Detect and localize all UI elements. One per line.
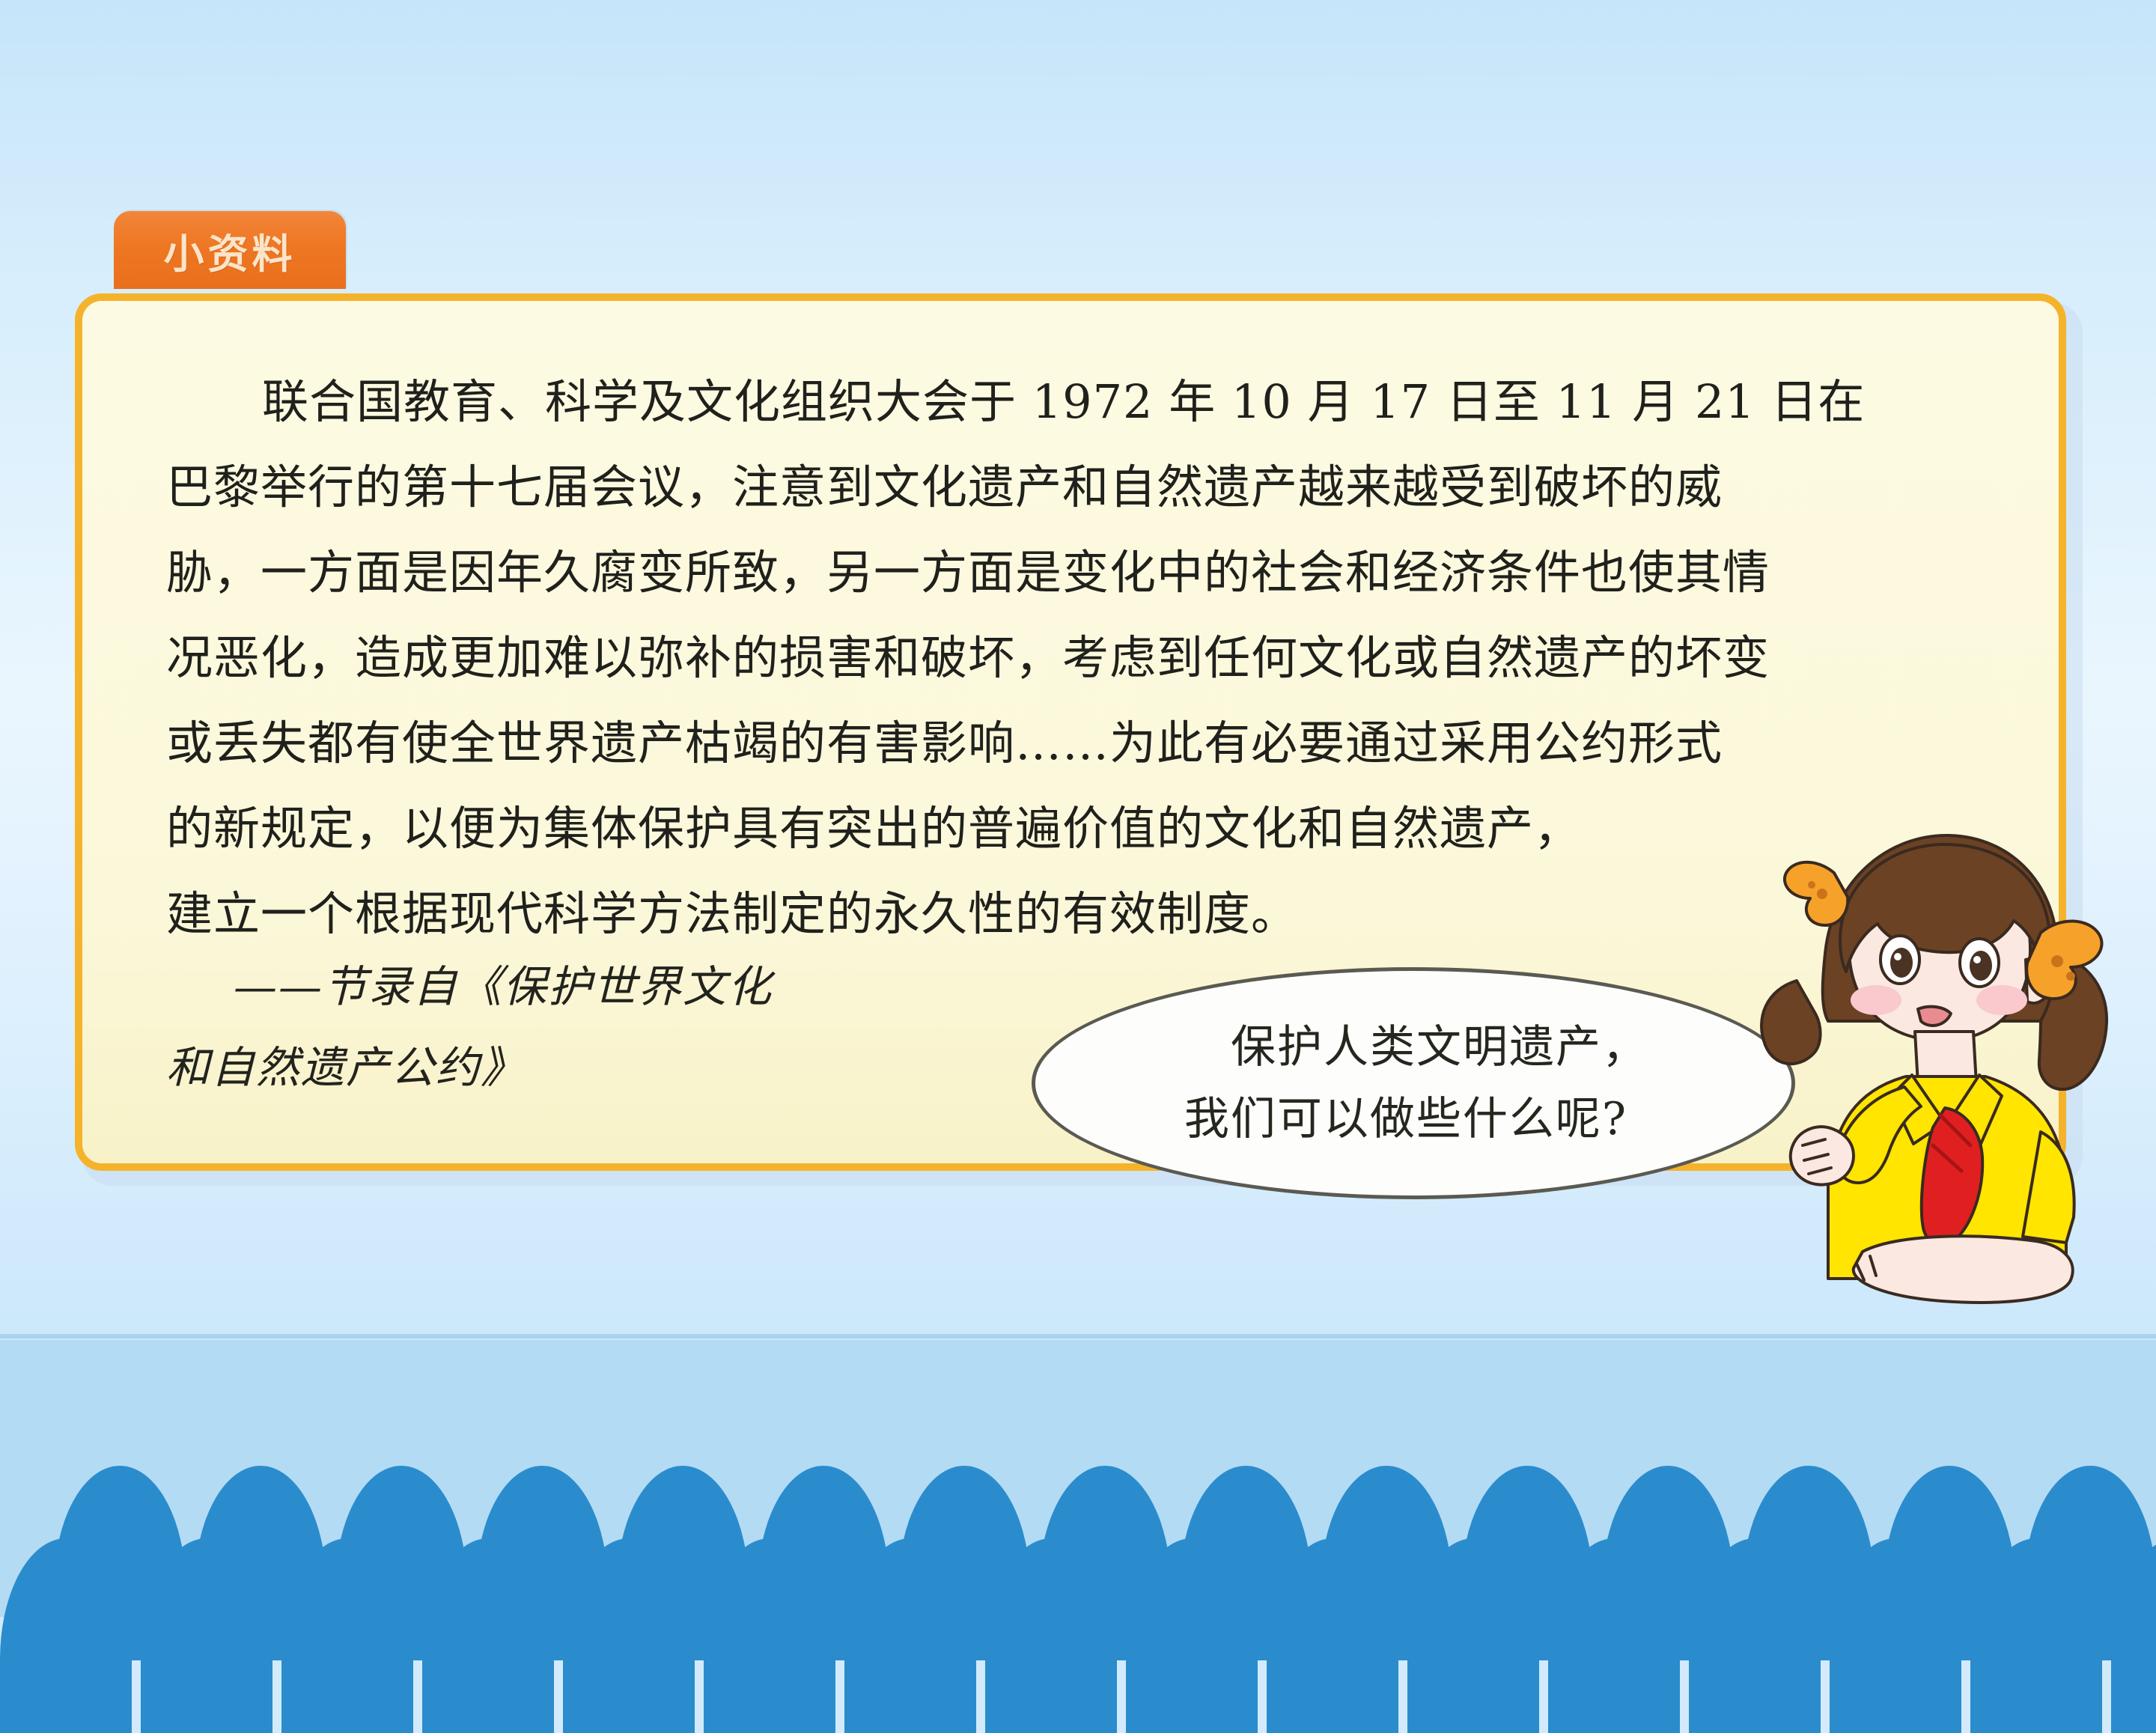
- excerpt-line: 或丢失都有使全世界遗产枯竭的有害影响……为此有必要通过采用公约形式: [166, 701, 1985, 786]
- info-tab-label: 小资料: [164, 221, 296, 280]
- decorative-arch: [1830, 1538, 1961, 1733]
- excerpt-body: 联合国教育、科学及文化组织大会于 1972 年 10 月 17 日至 11 月 …: [166, 359, 1985, 957]
- decorative-arch: [1126, 1538, 1258, 1733]
- cartoon-girl-illustration: [1744, 794, 2156, 1333]
- excerpt-line: 联合国教育、科学及文化组织大会于 1972 年 10 月 17 日至 11 月 …: [166, 359, 1985, 445]
- excerpt-source-line: 和自然遗产公约》: [166, 1027, 1139, 1108]
- speech-bubble: 保护人类文明遗产， 我们可以做些什么呢?: [1032, 967, 1795, 1199]
- decorative-arch: [422, 1538, 554, 1733]
- excerpt-source-attribution: ——节录自《保护世界文化 和自然遗产公约》: [166, 946, 1139, 1108]
- excerpt-line: 巴黎举行的第十七届会议，注意到文化遗产和自然遗产越来越受到破坏的威: [166, 445, 1985, 530]
- decorative-arch: [0, 1538, 132, 1733]
- decorative-arch: [1970, 1538, 2102, 1733]
- decorative-arch: [141, 1538, 272, 1733]
- excerpt-line: 胁，一方面是因年久腐变所致，另一方面是变化中的社会和经济条件也使其情: [166, 530, 1985, 615]
- decorative-arch: [985, 1538, 1117, 1733]
- excerpt-line: 建立一个根据现代科学方法制定的永久性的有效制度。: [166, 871, 1985, 957]
- decorative-arch: [844, 1538, 976, 1733]
- decorative-arch: [704, 1538, 835, 1733]
- background-divider-line: [0, 1334, 2156, 1338]
- speech-bubble-line: 我们可以做些什么呢?: [1184, 1083, 1642, 1155]
- decorative-arch: [563, 1538, 695, 1733]
- excerpt-line: 的新规定，以便为集体保护具有突出的普遍价值的文化和自然遗产，: [166, 786, 1985, 871]
- decorative-arch: [1267, 1538, 1398, 1733]
- decorative-arch: [1689, 1538, 1821, 1733]
- decorative-arch: [1548, 1538, 1680, 1733]
- speech-bubble-line: 保护人类文明遗产，: [1178, 1011, 1648, 1083]
- decorative-arch-row-front: [0, 1538, 2156, 1733]
- excerpt-source-line: ——节录自《保护世界文化: [166, 946, 1139, 1027]
- decorative-arch: [1407, 1538, 1539, 1733]
- decorative-arch: [2111, 1538, 2156, 1733]
- excerpt-line: 况恶化，造成更加难以弥补的损害和破坏，考虑到任何文化或自然遗产的坏变: [166, 615, 1985, 701]
- decorative-arch: [281, 1538, 413, 1733]
- info-tab: 小资料: [114, 211, 346, 289]
